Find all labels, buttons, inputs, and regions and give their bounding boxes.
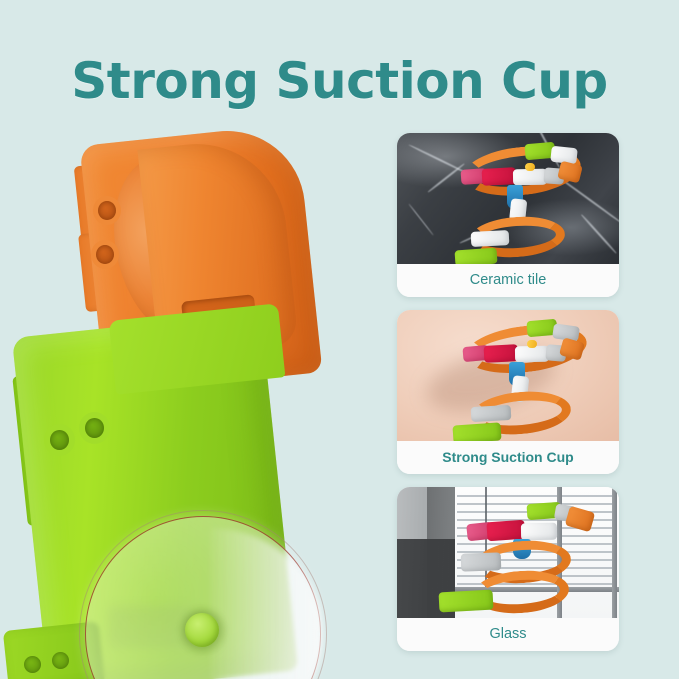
toy-piece-green — [439, 590, 494, 613]
toy-piece-white — [471, 230, 510, 247]
orange-peg-hole — [96, 245, 114, 264]
marble-run-toy — [449, 141, 589, 259]
card-label-ceramic-tile: Ceramic tile — [397, 264, 619, 297]
toy-piece-grey — [461, 552, 502, 571]
toy-piece-green — [452, 422, 501, 441]
card-label-glass: Glass — [397, 618, 619, 651]
suction-cup-center-nub — [185, 613, 219, 647]
toy-piece-yellow — [525, 163, 535, 171]
orange-peg-hole — [98, 201, 116, 220]
toy-piece-white — [515, 346, 549, 363]
card-photo-strong-suction-cup — [397, 310, 619, 441]
card-photo-glass — [397, 487, 619, 618]
card-photo-ceramic-tile — [397, 133, 619, 264]
toy-piece-white — [513, 169, 547, 186]
page-title: Strong Suction Cup — [0, 52, 679, 110]
toy-piece-white — [521, 523, 557, 541]
green-peg-hole — [50, 430, 69, 450]
toy-piece-green — [454, 248, 497, 264]
toy-piece-red — [482, 167, 517, 186]
toy-piece-yellow — [527, 340, 537, 348]
toy-piece-grey — [471, 405, 512, 422]
suction-cup-highlight — [210, 528, 322, 679]
surface-card-ceramic-tile[interactable]: Ceramic tile — [397, 133, 619, 297]
hero-product-image — [0, 128, 372, 679]
marble-run-toy — [449, 320, 589, 438]
surface-examples-list: Ceramic tile Strong S — [397, 133, 619, 664]
green-foot-hole — [24, 656, 41, 673]
green-peg-hole — [85, 418, 104, 438]
green-foot-hole — [52, 652, 69, 669]
window-frame-vertical — [612, 487, 617, 618]
card-label-strong-suction-cup: Strong Suction Cup — [397, 441, 619, 474]
toy-piece-red — [484, 344, 519, 363]
marble-run-toy — [421, 495, 571, 617]
surface-card-glass[interactable]: Glass — [397, 487, 619, 651]
surface-card-strong-suction-cup[interactable]: Strong Suction Cup — [397, 310, 619, 474]
